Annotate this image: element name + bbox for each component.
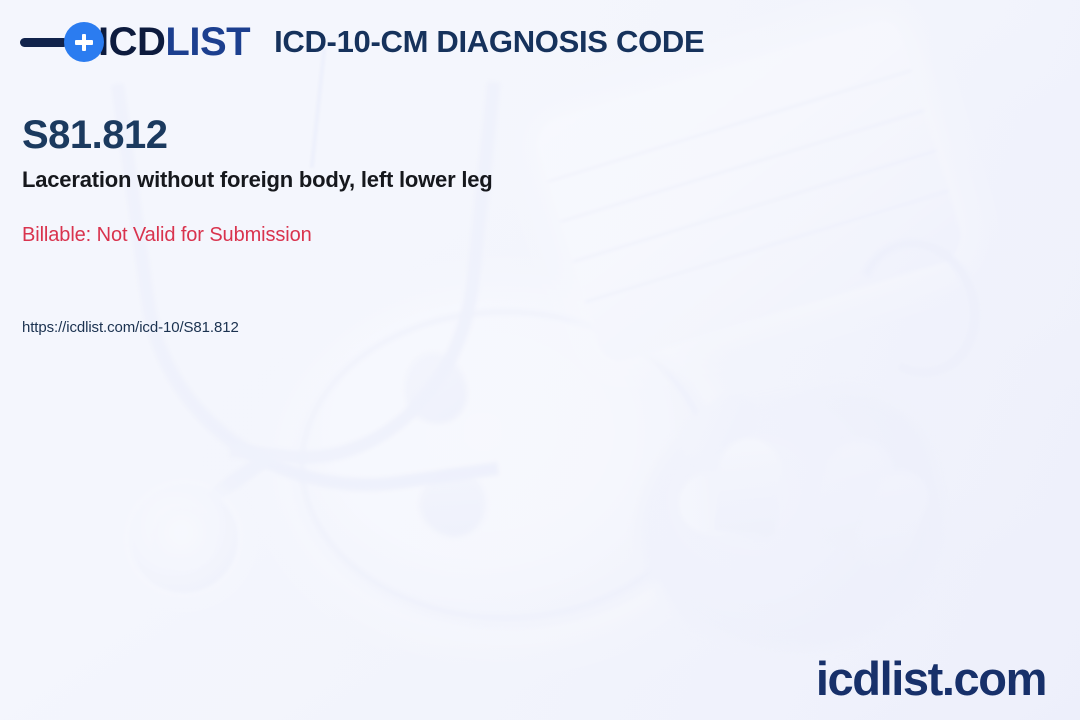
dash-icon xyxy=(20,38,68,47)
icdlist-logo[interactable]: ICDLIST xyxy=(20,22,250,62)
logo-wordmark: ICDLIST xyxy=(98,22,250,62)
site-watermark: icdlist.com xyxy=(816,655,1046,702)
logo-text-secondary: LIST xyxy=(165,20,250,64)
page-title: ICD-10-CM DIAGNOSIS CODE xyxy=(274,26,704,59)
logo-text-primary: ICD xyxy=(98,20,165,64)
diagnosis-description: Laceration without foreign body, left lo… xyxy=(22,166,493,194)
icd-code-card: ICDLIST ICD-10-CM DIAGNOSIS CODE S81.812… xyxy=(0,0,1080,720)
billable-status-badge: Billable: Not Valid for Submission xyxy=(22,223,312,248)
plus-circle-icon xyxy=(64,22,104,62)
card-header: ICDLIST ICD-10-CM DIAGNOSIS CODE xyxy=(20,22,704,62)
diagnosis-code: S81.812 xyxy=(22,113,168,157)
source-url[interactable]: https://icdlist.com/icd-10/S81.812 xyxy=(22,319,239,336)
card-content: ICDLIST ICD-10-CM DIAGNOSIS CODE S81.812… xyxy=(0,0,1080,720)
